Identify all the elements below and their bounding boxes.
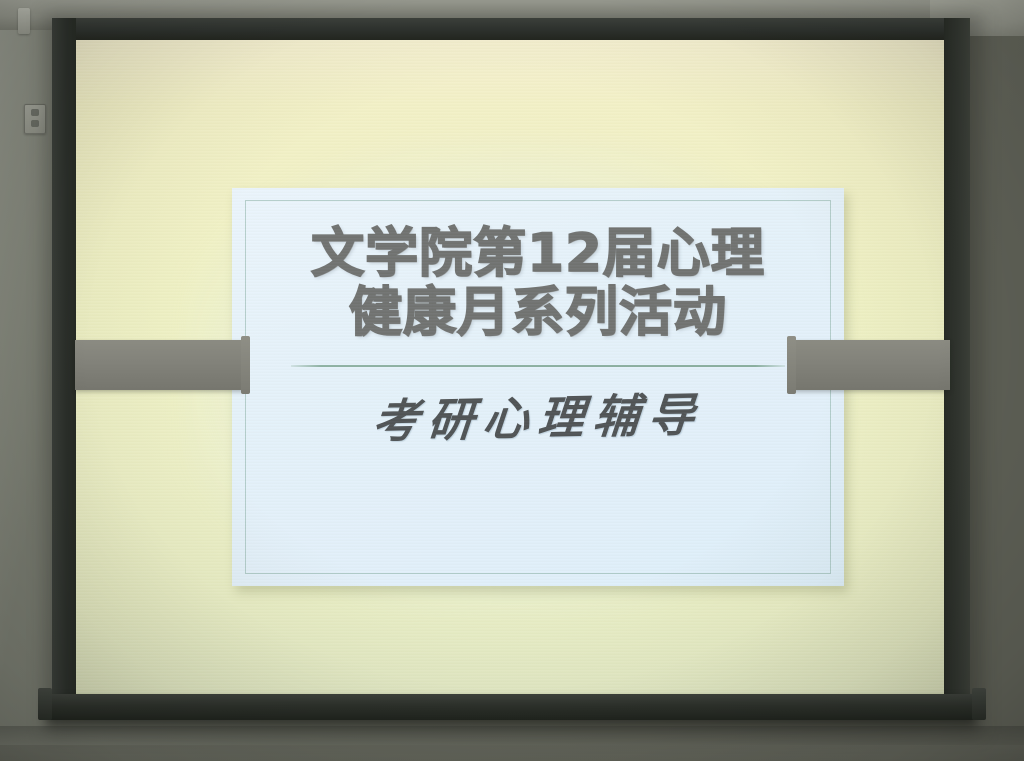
screen-mount-bracket [18,8,30,34]
slide-divider [291,365,785,367]
screen-frame-top [52,18,970,40]
slide-subtitle: 考研心理辅导 [371,389,706,446]
slide-card: 文学院第12届心理 健康月系列活动 考研心理辅导 [232,188,844,586]
screen-frame-left [52,18,76,720]
wall-power-outlet-icon [24,104,46,134]
screenshot-root: 文学院第12届心理 健康月系列活动 考研心理辅导 [0,0,1024,761]
screen-bottom-cap-left [38,688,52,720]
wall-rail-right-cap [787,336,796,394]
screen-frame-bottom-bar [46,694,976,720]
slide-title-line-1: 文学院第12届心理 [311,224,765,283]
slide-title: 文学院第12届心理 健康月系列活动 [311,224,765,343]
wall-floor-shadow [0,726,1024,761]
wall-rail-left [75,340,245,390]
slide-title-line-2: 健康月系列活动 [311,283,765,342]
wall-rail-right [792,340,950,390]
wall-rail-left-cap [241,336,250,394]
slide-content: 文学院第12届心理 健康月系列活动 考研心理辅导 [232,188,844,586]
screen-bottom-cap-right [972,688,986,720]
